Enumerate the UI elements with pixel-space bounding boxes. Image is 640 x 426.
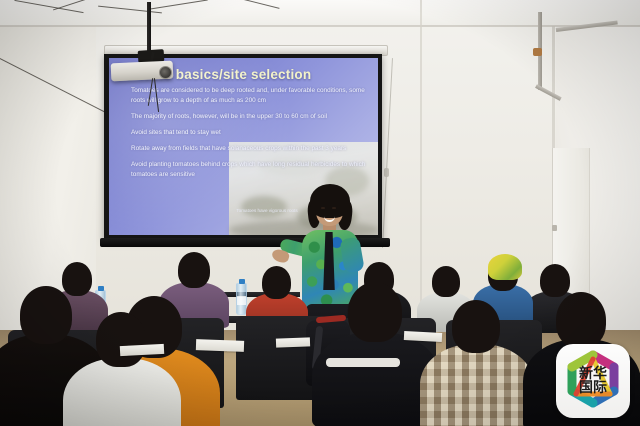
watermark-line-1: 新华 xyxy=(579,367,607,381)
door-handle xyxy=(552,225,557,231)
scarf xyxy=(326,358,400,367)
presenter-eye xyxy=(321,207,325,209)
headwrap xyxy=(488,254,522,280)
slide-bullet: Avoid sites that tend to stay wet xyxy=(131,128,368,138)
presenter-hair xyxy=(310,184,350,218)
watermark-text: 新华 国际 xyxy=(579,367,607,396)
handout-paper xyxy=(404,331,442,342)
xinhua-international-watermark: 新华 国际 xyxy=(556,344,630,418)
handout-paper xyxy=(276,337,310,347)
watermark-line-2: 国际 xyxy=(579,381,607,395)
slide-bullet: The majority of roots, however, will be … xyxy=(131,112,368,122)
ceiling xyxy=(0,0,640,26)
projector-mount-pole xyxy=(147,2,151,54)
ceiling-wall-seam xyxy=(0,25,640,27)
conduit-fitting xyxy=(533,48,542,56)
slide-bullet: Rotate away from fields that have solana… xyxy=(131,144,368,154)
slide-bullet-list: Tomatoes are considered to be deep roote… xyxy=(131,86,368,186)
handout-paper xyxy=(196,339,244,352)
slide-bullet: Tomatoes are considered to be deep roote… xyxy=(131,86,368,107)
presentation-photograph: …to basics/site selection Tomatoes are c… xyxy=(0,0,640,426)
wall-vertical-seam xyxy=(420,0,422,340)
slide-title: …to basics/site selection xyxy=(145,67,372,82)
projector-lens-icon xyxy=(159,66,172,79)
screen-pull-cord-knob xyxy=(384,168,389,177)
presenter-eye xyxy=(332,207,336,209)
